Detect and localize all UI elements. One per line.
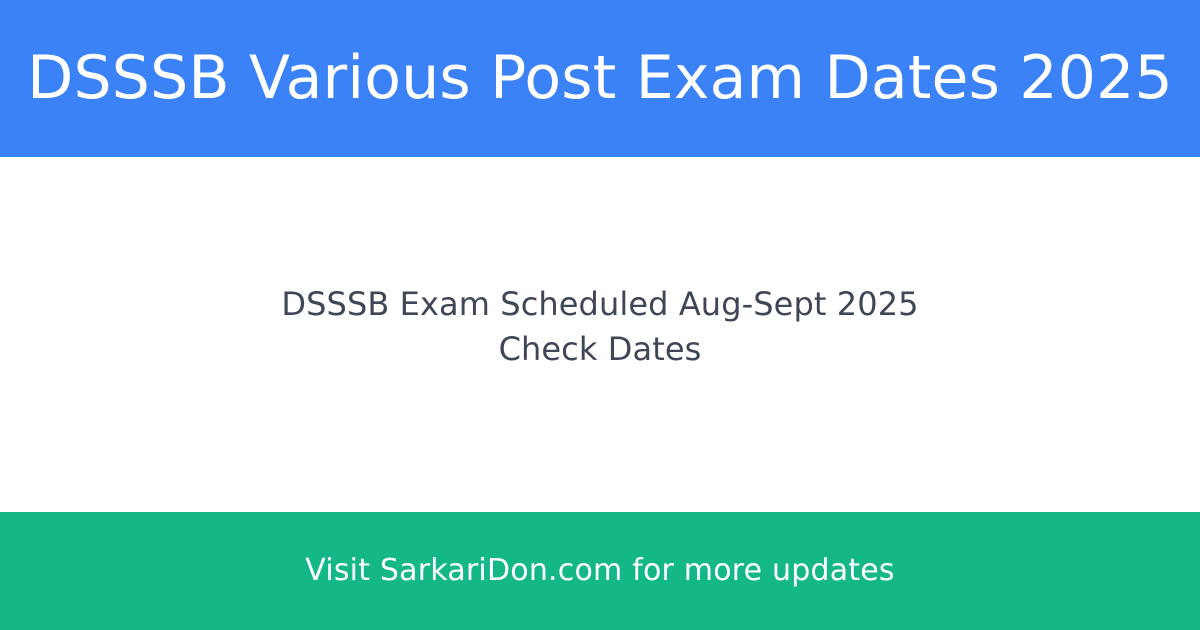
body-line-2: Check Dates	[281, 327, 918, 372]
body-area: DSSSB Exam Scheduled Aug-Sept 2025 Check…	[0, 157, 1200, 512]
footer-visit-text: Visit SarkariDon.com for more updates	[305, 553, 895, 589]
header-band: DSSSB Various Post Exam Dates 2025	[0, 0, 1200, 157]
footer-band: Visit SarkariDon.com for more updates	[0, 512, 1200, 630]
body-copy: DSSSB Exam Scheduled Aug-Sept 2025 Check…	[281, 282, 918, 372]
body-line-1: DSSSB Exam Scheduled Aug-Sept 2025	[281, 282, 918, 327]
page-title: DSSSB Various Post Exam Dates 2025	[27, 45, 1173, 112]
poster-banner: DSSSB Various Post Exam Dates 2025 DSSSB…	[0, 0, 1200, 630]
